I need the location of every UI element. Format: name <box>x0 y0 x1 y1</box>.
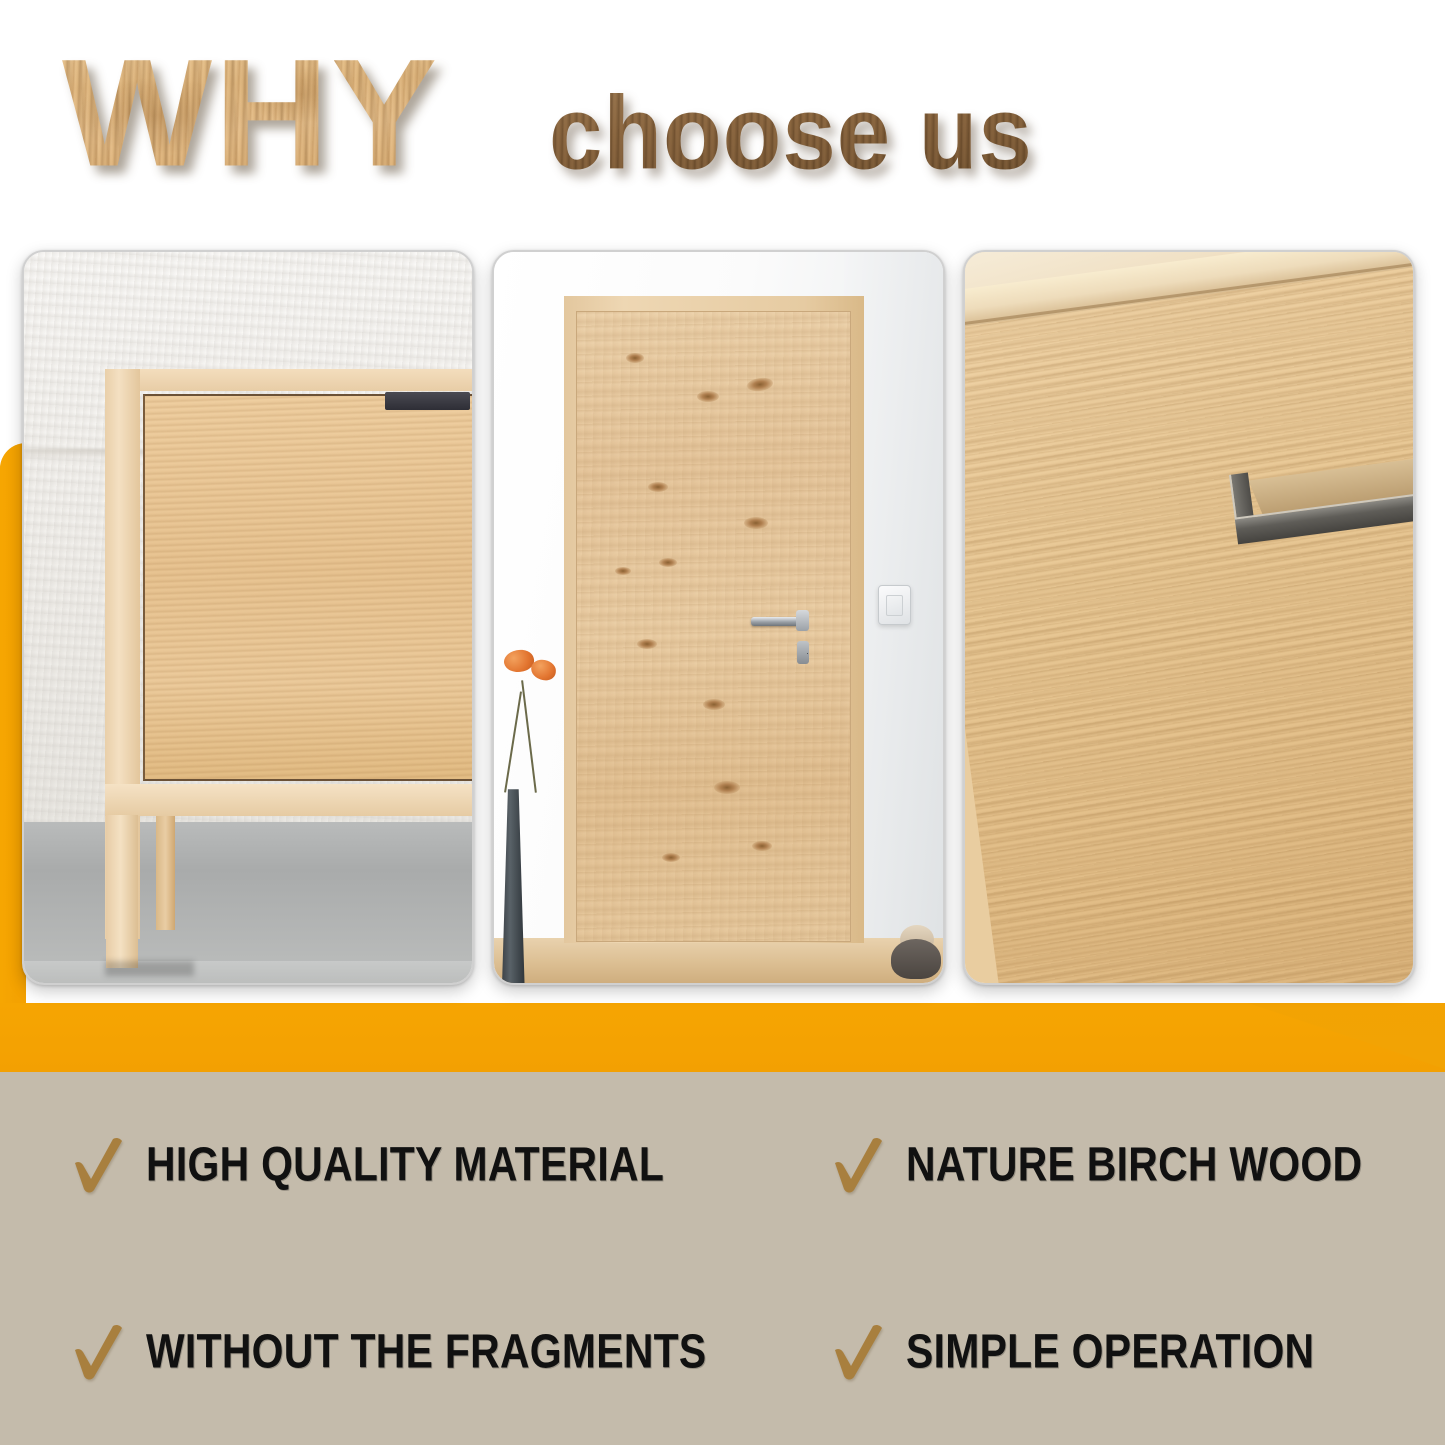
drawer-detail-photo <box>965 252 1413 983</box>
feature-label: SIMPLE OPERATION <box>906 1326 1314 1377</box>
door-casing-frame <box>564 296 865 943</box>
cabinet-photo <box>24 252 472 983</box>
wood-floor-strip <box>494 938 943 983</box>
feature-item-nature-birch-wood: NATURE BIRCH WOOD <box>800 1072 1445 1258</box>
wood-knot-icon <box>744 517 768 529</box>
door-lock-plate <box>797 641 810 664</box>
page-title-why: WHY <box>62 36 439 189</box>
cabinet-bottom-rail <box>105 784 472 816</box>
wood-knot-icon <box>714 781 740 794</box>
cabinet-leg-front <box>106 815 138 969</box>
cabinet-bar-handle <box>385 392 470 410</box>
feature-item-high-quality-material: HIGH QUALITY MATERIAL <box>0 1072 800 1258</box>
page-title-choose-us: choose us <box>549 82 1033 186</box>
wood-knot-icon <box>703 699 725 710</box>
decor-object-dark <box>891 939 940 979</box>
header-banner: WHY choose us <box>0 0 1445 225</box>
wood-knot-icon <box>648 482 668 492</box>
floor <box>24 822 472 983</box>
check-icon <box>72 1136 126 1194</box>
wood-knot-icon <box>697 391 719 402</box>
feature-label: NATURE BIRCH WOOD <box>906 1140 1362 1191</box>
door-handle-rosette <box>796 610 810 631</box>
wood-knot-icon <box>626 353 644 363</box>
feature-item-without-the-fragments: WITHOUT THE FRAGMENTS <box>0 1258 800 1445</box>
cabinet-leg-back <box>156 816 175 929</box>
features-panel: HIGH QUALITY MATERIAL NATURE BIRCH WOOD … <box>0 1072 1445 1445</box>
wood-knot-icon <box>746 377 774 393</box>
check-icon <box>832 1323 886 1381</box>
feature-item-simple-operation: SIMPLE OPERATION <box>800 1258 1445 1445</box>
light-switch <box>878 585 911 624</box>
gallery-card-drawer-detail[interactable] <box>963 250 1415 985</box>
door-photo <box>494 252 943 983</box>
features-grid: HIGH QUALITY MATERIAL NATURE BIRCH WOOD … <box>0 1072 1445 1445</box>
cabinet-drawer-front <box>143 394 472 781</box>
wood-knot-icon <box>637 639 657 649</box>
floor-reflection <box>24 961 472 984</box>
orange-diagonal-wedge <box>0 1003 1445 1073</box>
wood-knot-icon <box>615 567 631 575</box>
check-icon <box>832 1136 886 1194</box>
feature-label: HIGH QUALITY MATERIAL <box>146 1140 664 1191</box>
cabinet-floor-shadow <box>105 961 195 976</box>
cabinet-top-panel <box>105 369 472 391</box>
oak-door-leaf <box>576 311 851 942</box>
gallery-card-door[interactable] <box>492 250 945 985</box>
door-lever-handle <box>751 617 802 625</box>
feature-label: WITHOUT THE FRAGMENTS <box>146 1326 706 1377</box>
wood-knot-icon <box>659 558 677 567</box>
gallery-card-cabinet[interactable] <box>22 250 474 985</box>
wood-knot-icon <box>662 853 680 862</box>
check-icon <box>72 1323 126 1381</box>
wood-knot-icon <box>752 841 772 851</box>
drawer-front-face <box>965 252 1413 983</box>
